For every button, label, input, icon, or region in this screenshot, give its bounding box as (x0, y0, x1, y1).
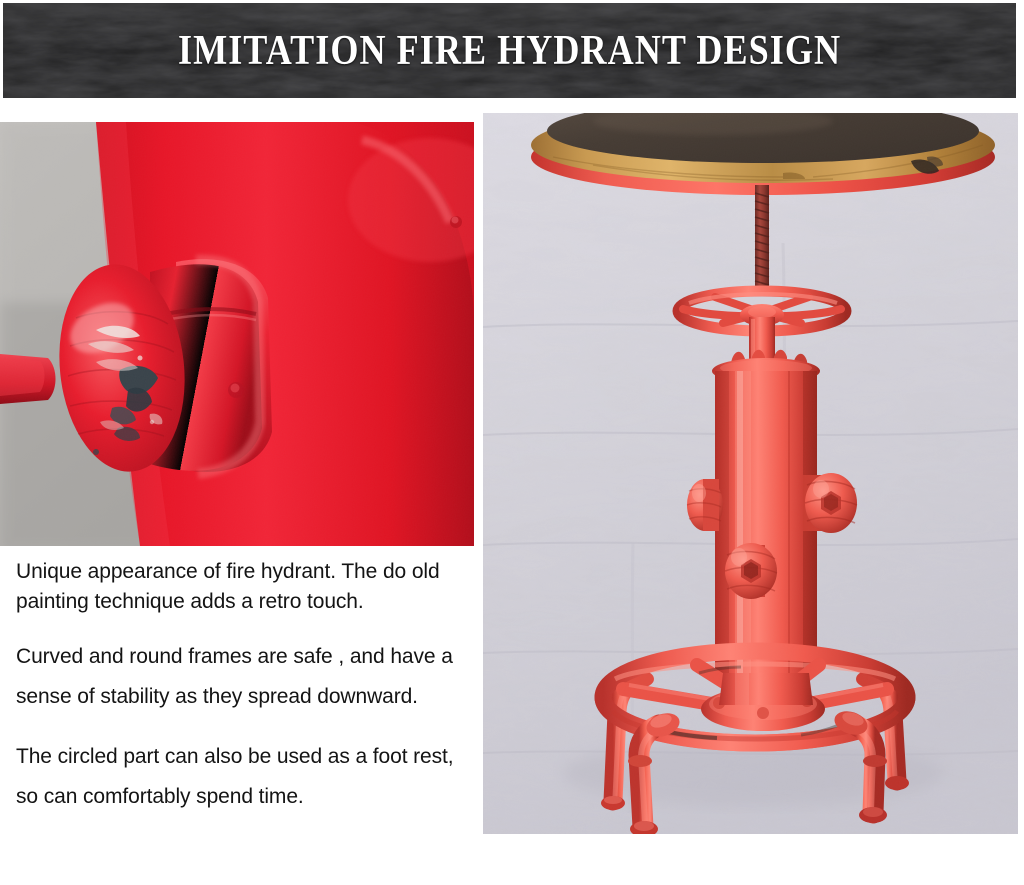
page-title: IMITATION FIRE HYDRANT DESIGN (178, 27, 841, 75)
hydrant-closeup-illustration (0, 122, 474, 546)
fire-hydrant-bar-table-photo (483, 113, 1018, 834)
feature-description-text: Unique appearance of fire hydrant. The d… (16, 557, 468, 817)
header-banner: IMITATION FIRE HYDRANT DESIGN (3, 3, 1016, 98)
product-feature-page: IMITATION FIRE HYDRANT DESIGN (0, 0, 1024, 885)
fire-hydrant-closeup-photo (0, 122, 474, 546)
description-paragraph-1: Unique appearance of fire hydrant. The d… (16, 557, 468, 617)
bar-table-illustration (483, 113, 1018, 834)
description-paragraph-2: Curved and round frames are safe , and h… (16, 637, 468, 717)
description-paragraph-3: The circled part can also be used as a f… (16, 737, 468, 817)
